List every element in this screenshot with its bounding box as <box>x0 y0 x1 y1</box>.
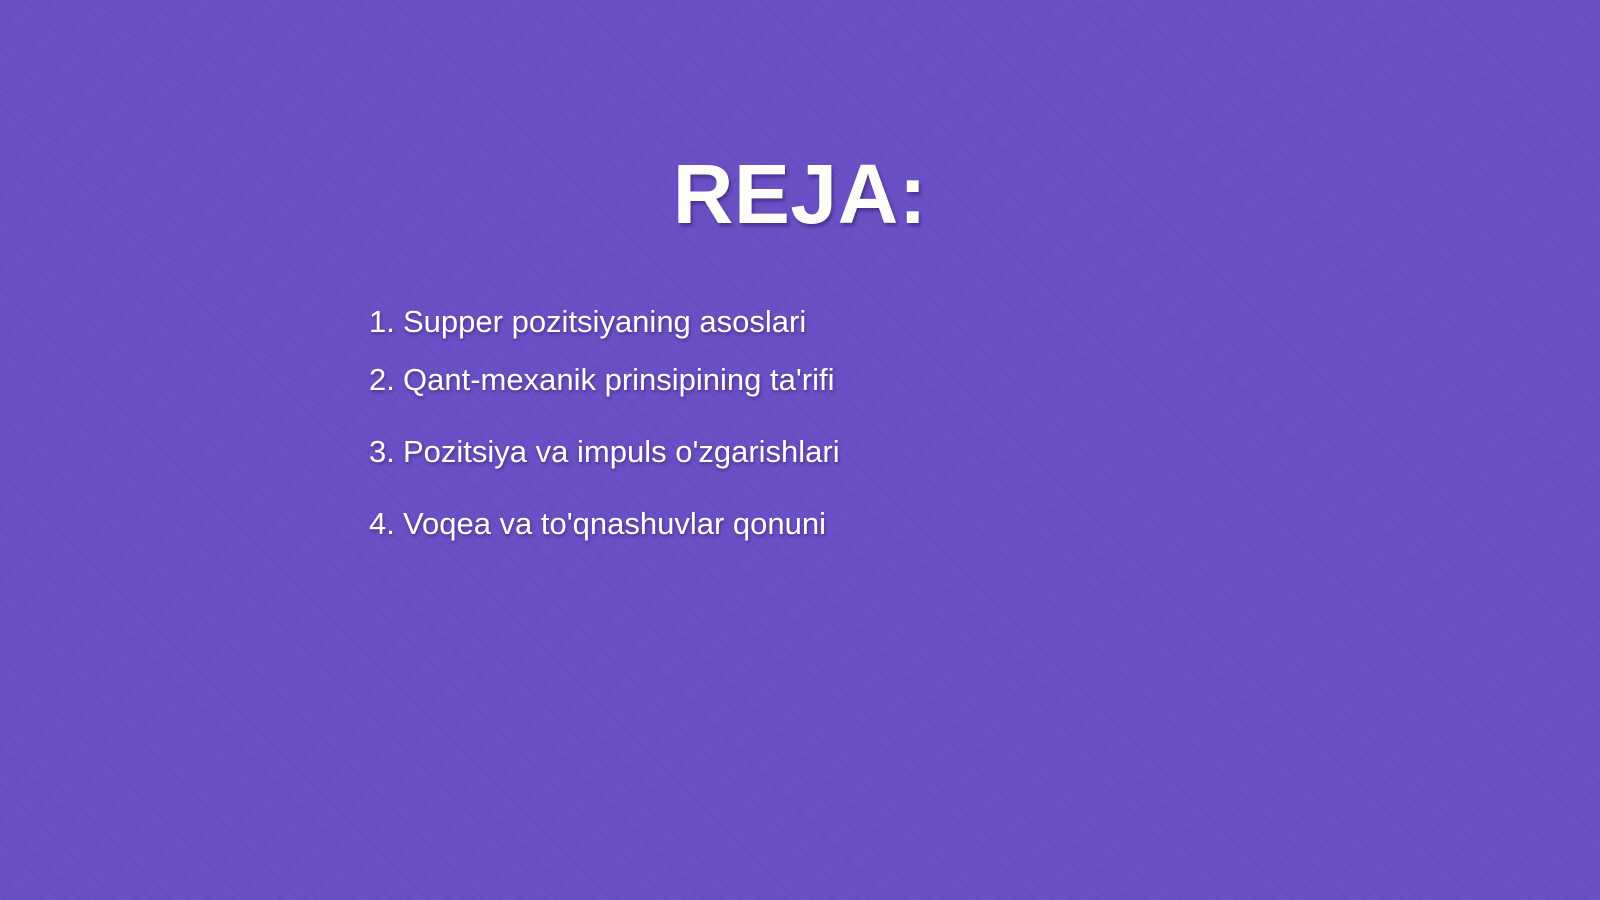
list-item: 1. Supper pozitsiyaning asoslari <box>369 306 1269 337</box>
list-item-number: 1. <box>369 306 403 337</box>
page-title: REJA: <box>0 152 1600 236</box>
list-item-label: Pozitsiya va impuls o'zgarishlari <box>403 436 840 467</box>
list-item-number: 3. <box>369 436 403 467</box>
list-item: 2. Qant-mexanik prinsipining ta'rifi <box>369 364 1269 395</box>
presentation-slide: REJA: 1. Supper pozitsiyaning asoslari 2… <box>0 0 1600 900</box>
list-item-label: Supper pozitsiyaning asoslari <box>403 306 806 337</box>
list-item: 3. Pozitsiya va impuls o'zgarishlari <box>369 436 1269 467</box>
list-item-number: 4. <box>369 508 403 539</box>
agenda-list: 1. Supper pozitsiyaning asoslari 2. Qant… <box>369 306 1269 539</box>
list-item: 4. Voqea va to'qnashuvlar qonuni <box>369 508 1269 539</box>
list-item-label: Qant-mexanik prinsipining ta'rifi <box>403 364 835 395</box>
list-item-number: 2. <box>369 364 403 395</box>
list-item-label: Voqea va to'qnashuvlar qonuni <box>403 508 826 539</box>
